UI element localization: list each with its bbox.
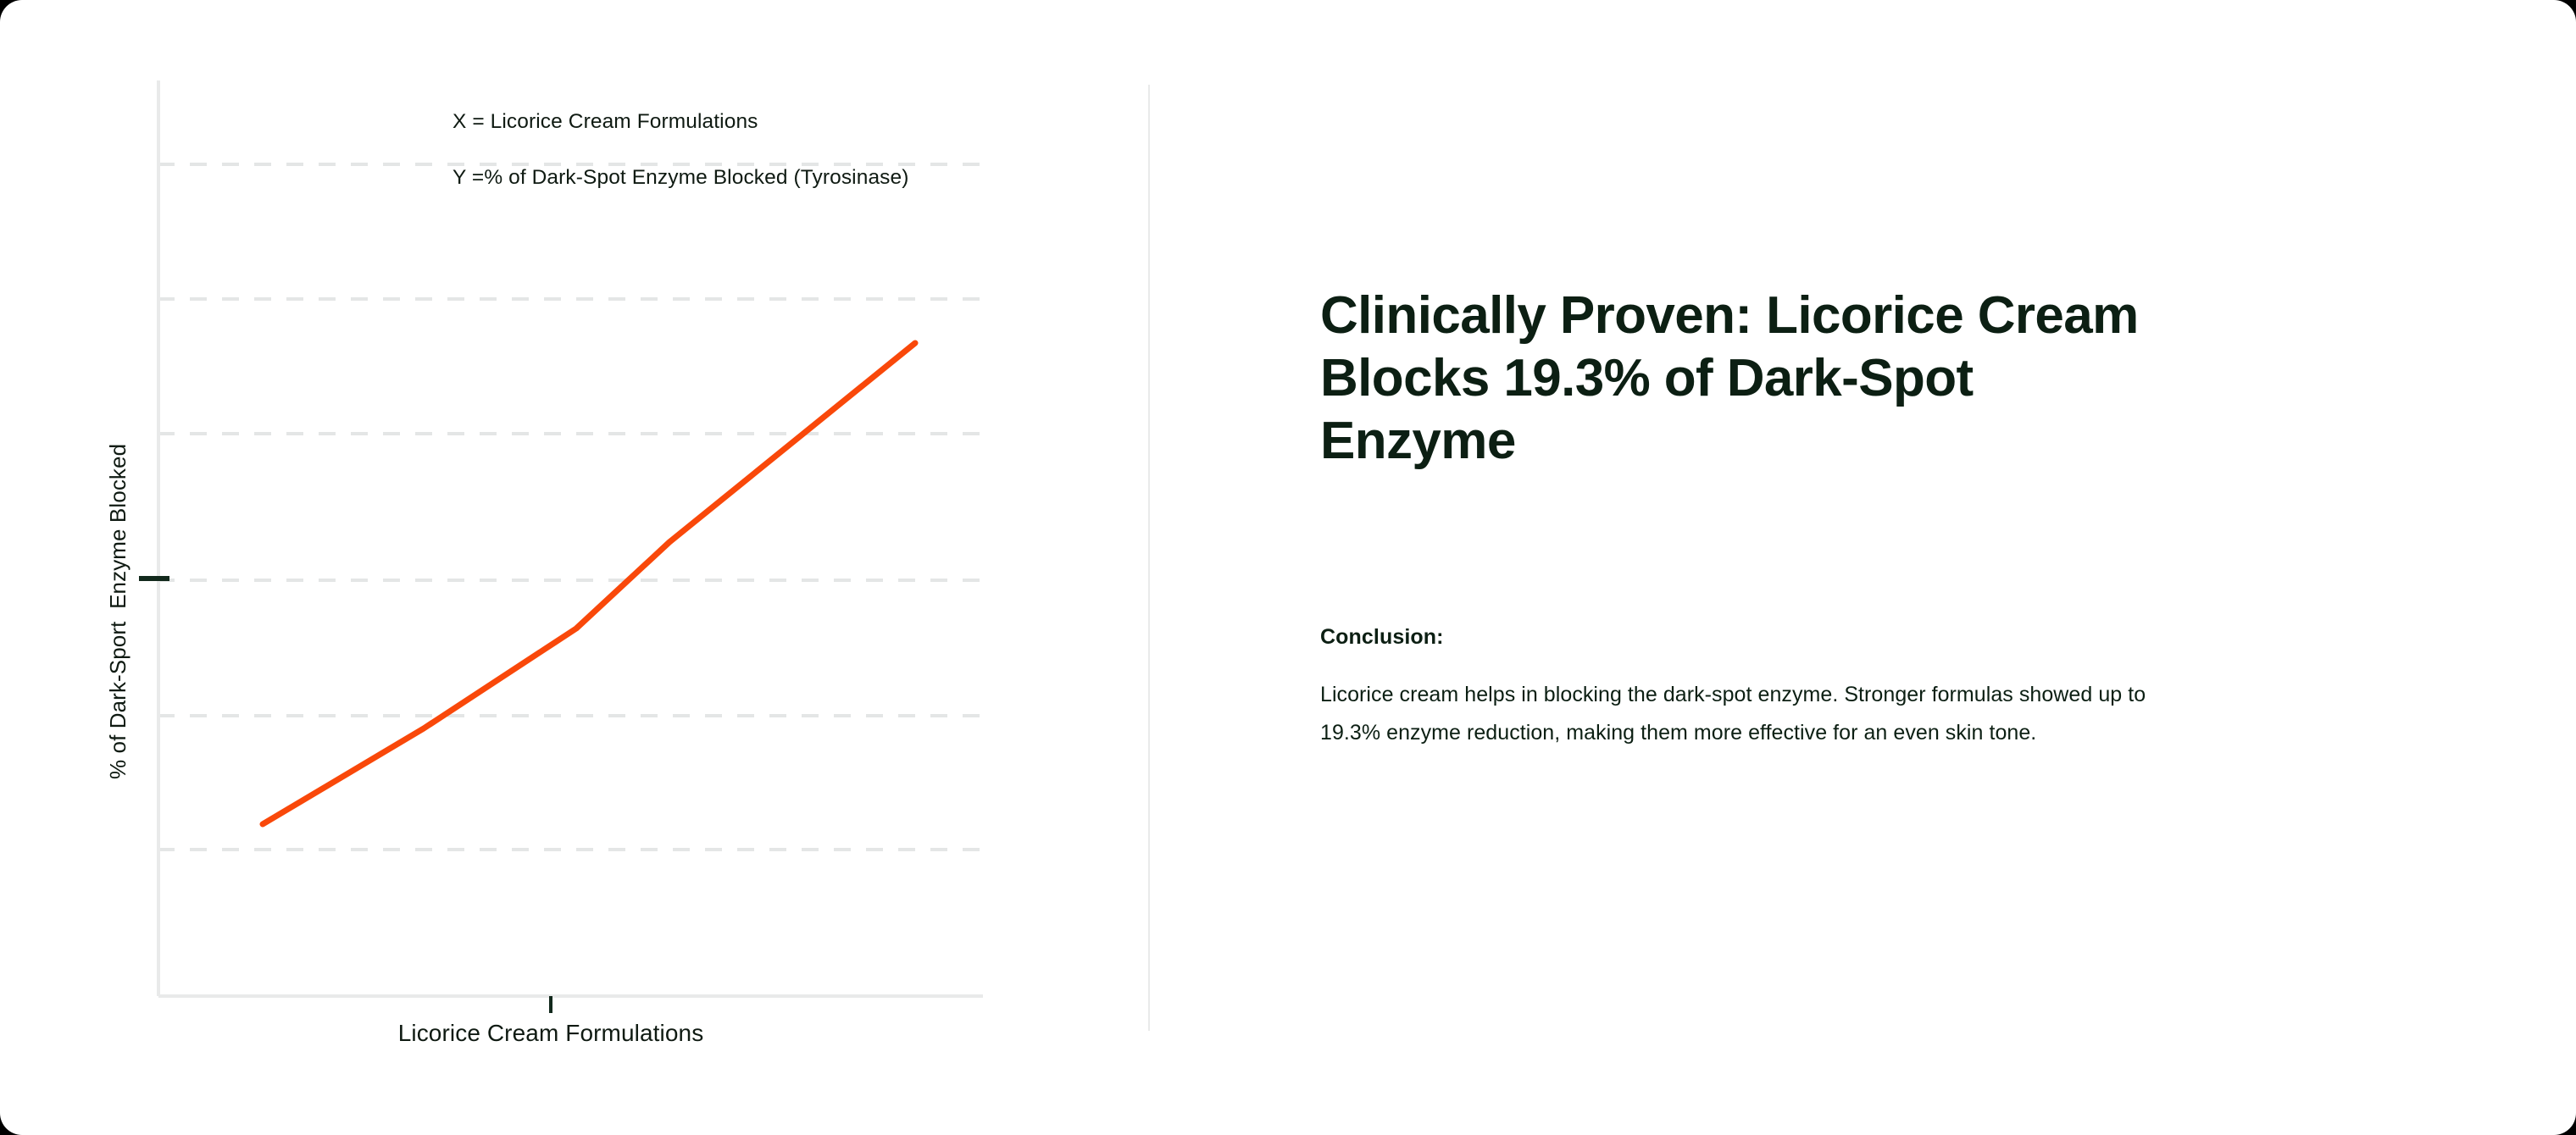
info-card: X = Licorice Cream Formulations Y =% of … (0, 0, 2576, 1135)
conclusion-body: Licorice cream helps in blocking the dar… (1320, 676, 2168, 751)
data-series-line (263, 343, 915, 824)
legend-y-definition: Y =% of Dark-Spot Enzyme Blocked (Tyrosi… (452, 164, 1096, 191)
chart-legend: X = Licorice Cream Formulations Y =% of … (452, 108, 1096, 191)
vertical-divider (1148, 85, 1150, 1031)
gridlines (158, 164, 983, 850)
y-axis-title: % of Dark-Sport Enzyme Blocked (105, 136, 131, 779)
page-title: Clinically Proven: Licorice Cream Blocks… (1320, 285, 2176, 472)
legend-x-definition: X = Licorice Cream Formulations (452, 108, 1096, 136)
conclusion-label: Conclusion: (1320, 625, 1444, 650)
text-panel: Clinically Proven: Licorice Cream Blocks… (1320, 0, 2252, 1135)
x-axis-title: Licorice Cream Formulations (161, 1020, 941, 1047)
chart-panel: X = Licorice Cream Formulations Y =% of … (0, 0, 1149, 1135)
